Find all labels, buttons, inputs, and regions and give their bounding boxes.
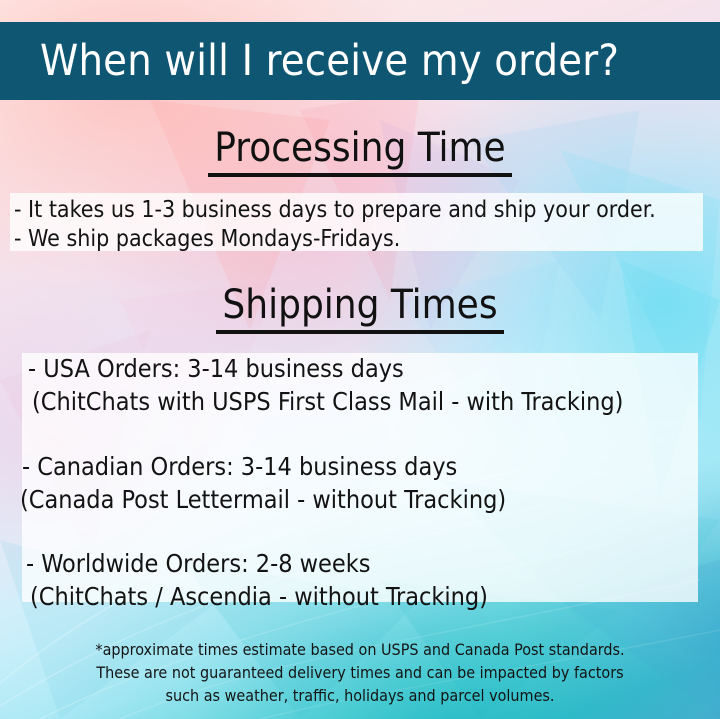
shipping-entry-usa-detail: (ChitChats with USPS First Class Mail - … <box>32 389 623 414</box>
footer-disclaimer-line-1: *approximate times estimate based on USP… <box>0 638 720 661</box>
shipping-entry-usa-title: - USA Orders: 3-14 business days <box>28 356 404 381</box>
shipping-entry-worldwide-detail: (ChitChats / Ascendia - without Tracking… <box>30 584 488 609</box>
shipping-entry-worldwide-title: - Worldwide Orders: 2-8 weeks <box>26 551 370 576</box>
section-heading-shipping-times: Shipping Times <box>0 285 720 334</box>
section-heading-processing-time: Processing Time <box>0 128 720 177</box>
shipping-entry-canada-title: - Canadian Orders: 3-14 business days <box>22 454 457 479</box>
processing-time-line-2: - We ship packages Mondays-Fridays. <box>14 228 400 251</box>
shipping-entry-canada-detail: (Canada Post Lettermail - without Tracki… <box>20 487 506 512</box>
footer-disclaimer: *approximate times estimate based on USP… <box>0 638 720 707</box>
header-banner: When will I receive my order? <box>0 22 720 100</box>
footer-disclaimer-line-3: such as weather, traffic, holidays and p… <box>0 684 720 707</box>
footer-disclaimer-line-2: These are not guaranteed delivery times … <box>0 661 720 684</box>
section-heading-processing-time-label: Processing Time <box>208 128 511 177</box>
page-title: When will I receive my order? <box>0 40 619 83</box>
section-heading-shipping-times-label: Shipping Times <box>216 285 503 334</box>
processing-time-line-1: - It takes us 1-3 business days to prepa… <box>14 199 656 222</box>
shipping-info-poster: When will I receive my order? Processing… <box>0 0 720 719</box>
